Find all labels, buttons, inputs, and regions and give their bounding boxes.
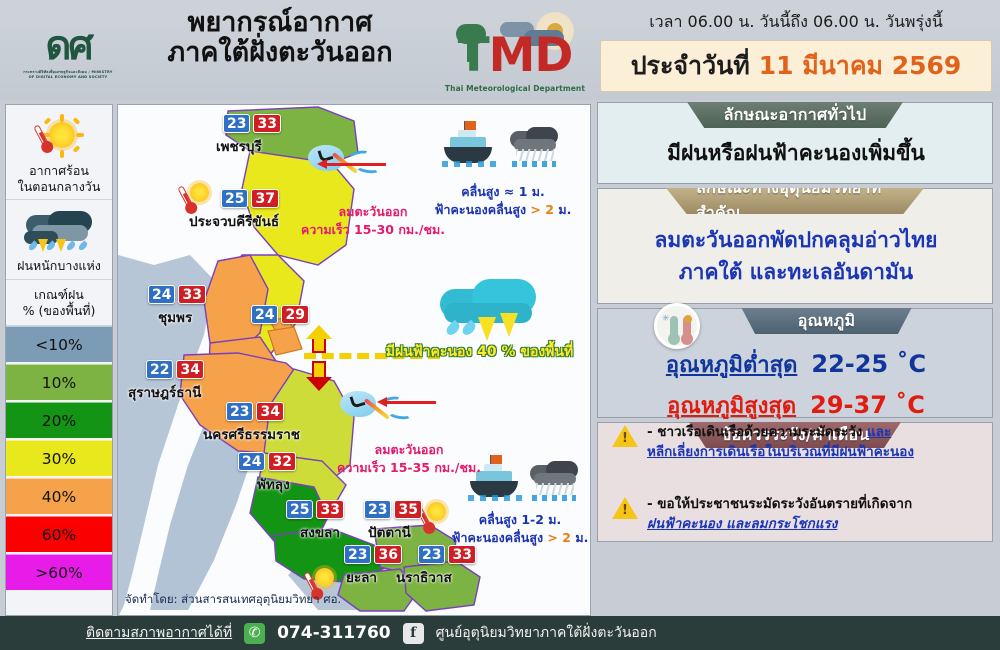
wind-direction-arrow bbox=[386, 401, 436, 404]
temp-pair-phatthalung: 24 32 bbox=[238, 452, 296, 471]
sun-dot-icon bbox=[684, 315, 692, 323]
hot-sun-thermometer-icon bbox=[8, 111, 110, 163]
thermometers-icon: ✳ bbox=[654, 303, 700, 349]
temperature-title: อุณหภูมิ bbox=[742, 308, 912, 334]
cold-thermometer-icon bbox=[670, 316, 678, 340]
wave-storm-value: 2 bbox=[562, 530, 571, 545]
temp-min-chip: 24 bbox=[148, 285, 175, 304]
temp-min-chip: 23 bbox=[418, 545, 445, 564]
weather-forecast-infographic: ดศ กระทรวงดิจิทัลเพื่อเศรษฐกิจและสังคม /… bbox=[0, 0, 1000, 650]
scale-label: <10% bbox=[35, 336, 82, 354]
page-title: พยากรณ์อากาศ ภาคใต้ฝั่งตะวันออก bbox=[120, 8, 440, 68]
temp-max-chip: 33 bbox=[178, 285, 205, 304]
thunderstorm-cloud-icon bbox=[8, 206, 110, 258]
wave-annotation-north: คลื่นสูง ≈ 1 ม. ฟ้าคะนองคลื่นสูง > 2 ม. bbox=[418, 183, 588, 219]
tmd-logo: TMD Thai Meteorological Department bbox=[440, 10, 590, 94]
wind-annotation-south: ลมตะวันออก ความเร็ว 15-35 กม./ชม. bbox=[314, 441, 504, 477]
temp-min-label: อุณหภูมิต่ำสุด bbox=[666, 347, 797, 382]
big-thunderstorm-icon bbox=[438, 277, 542, 345]
date-value: 11 มีนาคม 2569 bbox=[759, 46, 962, 86]
temp-pair-phetchaburi: 23 33 bbox=[223, 114, 281, 133]
wave-height: คลื่นสูง ≈ 1 ม. bbox=[418, 183, 588, 201]
scale-item-60: 60% bbox=[6, 516, 112, 554]
rain-cloud-icon bbox=[528, 461, 580, 503]
wave-storm-height: ฟ้าคะนองคลื่นสูง > 2 ม. bbox=[418, 201, 588, 219]
scale-item-lt10: <10% bbox=[6, 326, 112, 364]
title-line-2: ภาคใต้ฝั่งตะวันออก bbox=[120, 38, 440, 68]
boat-icon bbox=[442, 123, 496, 167]
title-line-1: พยากรณ์อากาศ bbox=[120, 8, 440, 38]
date-prefix: ประจำวันที่ bbox=[631, 46, 750, 86]
province-label-yala: ยะลา bbox=[346, 566, 377, 588]
temp-pair-pattani: 23 35 bbox=[364, 500, 422, 519]
scale-item-30: 30% bbox=[6, 440, 112, 478]
warning-text: - ขอให้ประชาชนระมัดระวังอันตรายที่เกิดจา… bbox=[647, 495, 912, 534]
wave-storm-unit: ม. bbox=[558, 202, 571, 217]
province-label-prachuap: ประจวบคีรีขันธ์ bbox=[189, 210, 279, 232]
synoptic-line-2: ภาคใต้ และทะเลอันดามัน bbox=[598, 257, 994, 289]
warning-2-line-1b[interactable]: และ bbox=[867, 424, 891, 440]
province-label-phatthalung: พัทลุง bbox=[257, 473, 290, 495]
temperature-max-row: อุณหภูมิสูงสุด 29-37 ˚C bbox=[598, 388, 994, 423]
gt-symbol: > bbox=[530, 202, 540, 217]
wave-storm-unit: ม. bbox=[575, 530, 588, 545]
synoptic-line-1: ลมตะวันออกพัดปกคลุมอ่าวไทย bbox=[598, 225, 994, 257]
general-weather-card: ลักษณะอากาศทั่วไป มีฝนหรือฝนฟ้าคะนองเพิ่… bbox=[597, 102, 993, 184]
wind-direction-arrow bbox=[326, 163, 386, 166]
province-label-songkhla: สงขลา bbox=[300, 521, 340, 543]
warning-item: - ขอให้ประชาชนระมัดระวังอันตรายที่เกิดจา… bbox=[612, 495, 988, 534]
wind-swirl-icon bbox=[340, 387, 414, 431]
facebook-icon[interactable]: f bbox=[403, 623, 424, 644]
tmd-letters: TMD bbox=[440, 28, 590, 83]
temp-max-chip: 34 bbox=[256, 402, 283, 421]
right-info-panel: ลักษณะอากาศทั่วไป มีฝนหรือฝนฟ้าคะนองเพิ่… bbox=[595, 100, 995, 650]
footer-bar: ติดตามสภาพอากาศได้ที่ ✆ 074-311760 f ศูน… bbox=[0, 616, 1000, 650]
temp-min-chip: 24 bbox=[238, 452, 265, 471]
snowflake-icon: ✳ bbox=[662, 314, 670, 324]
warning-2-line-2[interactable]: หลีกเลี่ยงการเดินเรือในบริเวณที่มีฝนฟ้าค… bbox=[647, 444, 914, 460]
province-label-nakhonsi: นครศรีธรรมราช bbox=[203, 423, 300, 445]
temp-min-chip: 23 bbox=[344, 545, 371, 564]
temp-pair-narathiwat: 23 33 bbox=[418, 545, 476, 564]
wave-annotation-south: คลื่นสูง 1-2 ม. ฟ้าคะนองคลื่นสูง > 2 ม. bbox=[440, 511, 591, 547]
scale-title-line2: % (ของพื้นที่) bbox=[23, 303, 96, 318]
general-weather-text: มีฝนหรือฝนฟ้าคะนองเพิ่มขึ้น bbox=[598, 137, 994, 170]
tmd-caption: Thai Meteorological Department bbox=[440, 84, 590, 93]
synoptic-title: ลักษณะทางอุตุนิยมวิทยาที่สำคัญ bbox=[666, 188, 924, 214]
hot-weather-caption: อากาศร้อน ในตอนกลางวัน bbox=[8, 163, 110, 194]
province-label-narathiwat: นราธิวาส bbox=[396, 566, 452, 588]
wave-storm-prefix: ฟ้าคะนองคลื่นสูง bbox=[452, 530, 543, 545]
temperature-min-row: อุณหภูมิต่ำสุด 22-25 ˚C bbox=[598, 347, 994, 382]
warnings-card: ข้อควรระวัง/คำเตือน - ขอให้ประชาชนระมัดร… bbox=[597, 422, 993, 542]
legend-hot-weather: อากาศร้อน ในตอนกลางวัน bbox=[6, 105, 112, 200]
temp-min-chip: 23 bbox=[226, 402, 253, 421]
scale-item-20: 20% bbox=[6, 402, 112, 440]
gt-symbol: > bbox=[547, 530, 557, 545]
province-label-chumphon: ชุมพร bbox=[158, 306, 192, 328]
hot-caption-line2: ในตอนกลางวัน bbox=[18, 179, 101, 194]
wind-speed: ความเร็ว 15-35 กม./ชม. bbox=[314, 459, 504, 477]
forecast-map[interactable]: 23 33 เพชรบุรี 25 37 ประจวบคีรีขันธ์ 24 … bbox=[117, 104, 591, 616]
province-label-pattani: ปัตตานี bbox=[368, 521, 411, 543]
temp-pair-samui-island: 24 29 bbox=[251, 305, 309, 324]
temp-min-chip: 23 bbox=[364, 500, 391, 519]
temp-max-chip: 33 bbox=[448, 545, 475, 564]
province-label-suratthani: สุราษฎร์ธานี bbox=[128, 381, 201, 403]
general-weather-title: ลักษณะอากาศทั่วไป bbox=[687, 102, 903, 128]
temp-pair-yala: 23 36 bbox=[344, 545, 402, 564]
map-credit: จัดทำโดย: ส่วนสารสนเทศอุตุนิยมวิทยา ศอ. bbox=[125, 591, 341, 609]
warning-item: - ชาวเรือเดินเรือด้วยความระมัดระวัง และ … bbox=[612, 423, 988, 462]
sun-hot-icon bbox=[180, 177, 216, 213]
wave-storm-value: 2 bbox=[545, 202, 554, 217]
temp-min-chip: 24 bbox=[251, 305, 278, 324]
temp-pair-prachuap: 25 37 bbox=[221, 189, 279, 208]
scale-title-line1: เกณฑ์ฝน bbox=[34, 287, 84, 302]
province-label-phetchaburi: เพชรบุรี bbox=[216, 135, 262, 157]
synoptic-text: ลมตะวันออกพัดปกคลุมอ่าวไทย ภาคใต้ และทะเ… bbox=[598, 225, 994, 288]
forecast-time-range: เวลา 06.00 น. วันนี้ถึง 06.00 น. วันพรุ่… bbox=[600, 10, 992, 35]
temp-max-label: อุณหภูมิสูงสุด bbox=[667, 388, 796, 423]
warning-triangle-icon bbox=[612, 497, 638, 519]
warning-text: - ชาวเรือเดินเรือด้วยความระมัดระวัง และ … bbox=[647, 423, 914, 462]
phone-number[interactable]: 074-311760 bbox=[277, 623, 391, 643]
temp-max-chip: 32 bbox=[268, 452, 295, 471]
temp-min-chip: 25 bbox=[286, 500, 313, 519]
scale-item-40: 40% bbox=[6, 478, 112, 516]
temperature-card: ✳ อุณหภูมิ อุณหภูมิต่ำสุด 22-25 ˚C อุณหภ… bbox=[597, 308, 993, 418]
warning-1-line-1: - ขอให้ประชาชนระมัดระวังอันตรายที่เกิดจา… bbox=[647, 496, 912, 512]
legend-scale-title: เกณฑ์ฝน % (ของพื้นที่) bbox=[6, 280, 112, 326]
warning-1-line-2[interactable]: ฝนฟ้าคะนอง และลมกระโชกแรง bbox=[647, 516, 837, 532]
temp-min-value: 22-25 ˚C bbox=[811, 350, 926, 378]
temp-min-chip: 23 bbox=[223, 114, 250, 133]
scale-label: 30% bbox=[42, 450, 76, 468]
ministry-subtitle: กระทรวงดิจิทัลเพื่อเศรษฐกิจและสังคม / MI… bbox=[22, 70, 114, 81]
temp-min-chip: 25 bbox=[221, 189, 248, 208]
temp-pair-nakhonsi: 23 34 bbox=[226, 402, 284, 421]
temperature-rows: อุณหภูมิต่ำสุด 22-25 ˚C อุณหภูมิสูงสุด 2… bbox=[598, 341, 994, 423]
temp-pair-songkhla: 25 33 bbox=[286, 500, 344, 519]
ministry-logo: ดศ กระทรวงดิจิทัลเพื่อเศรษฐกิจและสังคม /… bbox=[22, 16, 114, 90]
temp-min-chip: 22 bbox=[146, 360, 173, 379]
scale-label: >60% bbox=[35, 564, 82, 582]
temp-pair-chumphon: 24 33 bbox=[148, 285, 206, 304]
temp-max-chip: 34 bbox=[176, 360, 203, 379]
temp-pair-suratthani: 22 34 bbox=[146, 360, 204, 379]
warning-2-line-1a: - ชาวเรือเดินเรือด้วยความระมัดระวัง bbox=[647, 424, 862, 440]
temp-max-chip: 29 bbox=[281, 305, 308, 324]
follow-label: ติดตามสภาพอากาศได้ที่ bbox=[86, 622, 232, 644]
temp-max-value: 29-37 ˚C bbox=[810, 391, 925, 419]
wave-height: คลื่นสูง 1-2 ม. bbox=[440, 511, 591, 529]
header-bar: ดศ กระทรวงดิจิทัลเพื่อเศรษฐกิจและสังคม /… bbox=[0, 0, 1000, 100]
wind-speed: ความเร็ว 15-30 กม./ชม. bbox=[278, 221, 468, 239]
wave-storm-prefix: ฟ้าคะนองคลื่นสูง bbox=[435, 202, 526, 217]
temp-max-chip: 37 bbox=[251, 189, 278, 208]
scale-label: 10% bbox=[42, 374, 76, 392]
temp-max-chip: 36 bbox=[374, 545, 401, 564]
legend-heavy-rain: ฝนหนักบางแห่ง bbox=[6, 200, 112, 280]
facebook-page-name[interactable]: ศูนย์อุตุนิยมวิทยาภาคใต้ฝั่งตะวันออก bbox=[436, 622, 657, 644]
phone-icon: ✆ bbox=[244, 623, 265, 644]
synoptic-card: ลักษณะทางอุตุนิยมวิทยาที่สำคัญ ลมตะวันออ… bbox=[597, 188, 993, 304]
temp-max-chip: 33 bbox=[316, 500, 343, 519]
rain-coverage-text: มีฝนฟ้าคะนอง 40 % ของพื้นที่ bbox=[372, 341, 587, 363]
legend-panel: อากาศร้อน ในตอนกลางวัน ฝนหนักบางแห่ง bbox=[5, 104, 113, 616]
hot-caption-line1: อากาศร้อน bbox=[29, 163, 89, 178]
heavy-rain-caption: ฝนหนักบางแห่ง bbox=[8, 258, 110, 274]
scale-label: 60% bbox=[42, 526, 76, 544]
temp-max-chip: 33 bbox=[253, 114, 280, 133]
scale-item-10: 10% bbox=[6, 364, 112, 402]
wind-title: ลมตะวันออก bbox=[314, 441, 504, 459]
scale-label: 20% bbox=[42, 412, 76, 430]
rain-cloud-icon bbox=[508, 127, 560, 169]
scale-item-gt60: >60% bbox=[6, 554, 112, 592]
forecast-date-box: ประจำวันที่ 11 มีนาคม 2569 bbox=[600, 40, 992, 92]
temp-max-chip: 35 bbox=[394, 500, 421, 519]
ministry-mark: ดศ bbox=[45, 26, 90, 66]
scale-label: 40% bbox=[42, 488, 76, 506]
rain-percent-scale: <10% 10% 20% 30% 40% 60% >60% bbox=[6, 326, 112, 592]
rain-coverage-annotation: มีฝนฟ้าคะนอง 40 % ของพื้นที่ bbox=[372, 341, 587, 363]
warning-triangle-icon bbox=[612, 425, 638, 447]
